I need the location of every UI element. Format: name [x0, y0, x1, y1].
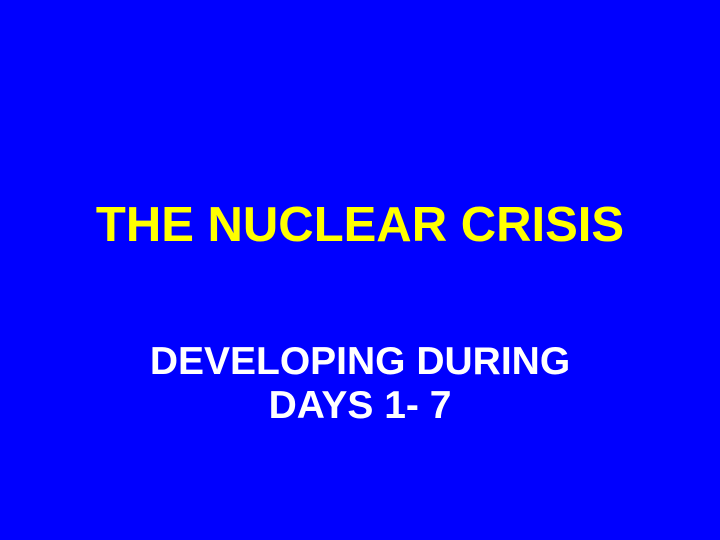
slide-content-area: THE NUCLEAR CRISIS DEVELOPING DURING DAY…	[0, 0, 720, 540]
subtitle-line-1: DEVELOPING DURING	[0, 340, 720, 384]
subtitle-line-2: DAYS 1- 7	[0, 384, 720, 428]
title-block: THE NUCLEAR CRISIS	[0, 196, 720, 254]
slide-title: THE NUCLEAR CRISIS	[0, 196, 720, 254]
presentation-slide: THE NUCLEAR CRISIS DEVELOPING DURING DAY…	[0, 0, 720, 540]
subtitle-block: DEVELOPING DURING DAYS 1- 7	[0, 340, 720, 428]
